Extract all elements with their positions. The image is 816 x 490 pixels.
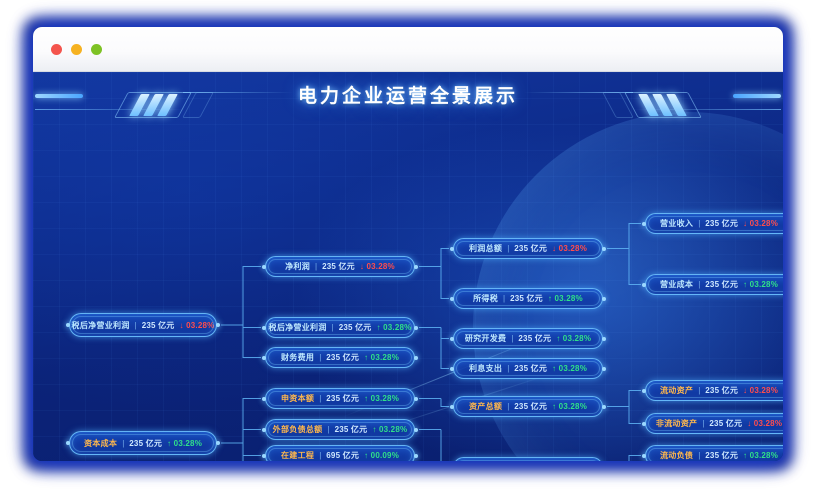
node-separator: | [327,425,329,434]
node-trend: ↓ 03.28% [747,419,782,428]
node-trend: ↑ 03.28% [548,294,583,303]
node-value: 235 亿元 [514,363,547,374]
connector [441,430,449,462]
tree-node[interactable]: 税后净营业利润|235 亿元↑ 03.28% [265,317,415,338]
node-value: 235 亿元 [326,393,359,404]
node-cap-right [414,397,418,401]
node-label: 营业收入 [660,218,693,229]
node-value: 695 亿元 [326,450,359,461]
browser-window: 电力企业运营全景展示 [33,27,783,461]
node-value: 235 亿元 [142,320,175,331]
node-trend: ↓ 03.28% [552,244,587,253]
node-separator: | [122,439,124,448]
node-trend: ↑ 03.28% [552,364,587,373]
node-trend: ↑ 03.28% [556,334,591,343]
node-cap-right [414,454,418,458]
node-label: 非流动资产 [656,418,698,429]
tree-node[interactable]: 负债总额|235 亿元↑ 03.28% [453,457,603,461]
node-value: 235 亿元 [705,385,738,396]
connector [441,249,449,267]
connector [243,399,261,444]
node-separator: | [319,394,321,403]
node-label: 营业成本 [660,279,693,290]
tree-node[interactable]: 净利润|235 亿元↓ 03.28% [265,256,415,277]
node-trend: ↑ 03.28% [372,425,407,434]
node-label: 在建工程 [281,450,314,461]
node-separator: | [698,451,700,460]
tree-node[interactable]: 营业成本|235 亿元↑ 03.28% [645,274,783,295]
connector [243,443,261,456]
connector [243,430,261,444]
node-separator: | [503,294,505,303]
node-separator: | [332,323,334,332]
org-tree: 税后净营业利润|235 亿元↓ 03.28%资本成本|235 亿元↑ 03.28… [33,72,783,461]
node-label: 所得税 [473,293,498,304]
node-separator: | [315,262,317,271]
node-cap-right [414,265,418,269]
connector [441,399,449,407]
node-separator: | [507,364,509,373]
node-value: 235 亿元 [335,424,368,435]
node-separator: | [507,244,509,253]
node-label: 利息支出 [469,363,502,374]
tree-node[interactable]: 非流动资产|235 亿元↓ 03.28% [645,413,783,434]
node-trend: ↑ 03.28% [377,323,412,332]
tree-node[interactable]: 外部负债总额|235 亿元↑ 03.28% [265,419,415,440]
node-value: 235 亿元 [518,333,551,344]
node-value: 235 亿元 [129,438,162,449]
node-separator: | [698,219,700,228]
tree-node[interactable]: 申资本额|235 亿元↑ 03.28% [265,388,415,409]
node-label: 税后净营业利润 [269,322,327,333]
tree-node[interactable]: 财务费用|235 亿元↑ 03.28% [265,347,415,368]
node-label: 税后净营业利润 [72,320,130,331]
connector [629,224,641,249]
window-controls [51,44,102,55]
connector [441,267,449,299]
node-separator: | [319,353,321,362]
screenshot-root: 电力企业运营全景展示 [0,0,816,490]
node-trend: ↑ 03.28% [743,280,778,289]
maximize-icon[interactable] [91,44,102,55]
node-value: 235 亿元 [705,218,738,229]
connector [629,407,641,424]
node-cap-right [414,356,418,360]
tree-node[interactable]: 在建工程|695 亿元↑ 00.09% [265,445,415,461]
node-value: 235 亿元 [510,293,543,304]
node-label: 资本成本 [84,438,117,449]
node-cap-right [602,247,606,251]
node-separator: | [511,334,513,343]
node-cap-right [216,323,220,327]
node-label: 流动负债 [660,450,693,461]
node-separator: | [702,419,704,428]
connector [243,443,261,461]
node-label: 外部负债总额 [273,424,323,435]
connector [441,328,449,339]
node-label: 研究开发费 [465,333,507,344]
node-value: 235 亿元 [322,261,355,272]
tree-node[interactable]: 税后净营业利润|235 亿元↓ 03.28% [69,313,217,337]
node-label: 财务费用 [281,352,314,363]
connector [441,328,449,369]
node-value: 235 亿元 [339,322,372,333]
connector [243,267,261,326]
tree-node[interactable]: 利润总额|235 亿元↓ 03.28% [453,238,603,259]
node-trend: ↑ 00.09% [364,451,399,460]
node-cap-right [602,405,606,409]
node-trend: ↓ 03.28% [180,321,215,330]
node-cap-right [414,326,418,330]
node-cap-right [602,337,606,341]
tree-node[interactable]: 研究开发费|235 亿元↑ 03.28% [453,328,603,349]
tree-node[interactable]: 流动资产|235 亿元↓ 03.28% [645,380,783,401]
tree-node[interactable]: 所得税|235 亿元↑ 03.28% [453,288,603,309]
minimize-icon[interactable] [71,44,82,55]
node-separator: | [698,386,700,395]
connector [243,325,261,358]
node-label: 申资本额 [281,393,314,404]
node-cap-right [216,441,220,445]
node-trend: ↑ 03.28% [552,402,587,411]
node-trend: ↓ 03.28% [743,386,778,395]
tree-node[interactable]: 利息支出|235 亿元↑ 03.28% [453,358,603,379]
node-separator: | [135,321,137,330]
close-icon[interactable] [51,44,62,55]
node-value: 235 亿元 [705,450,738,461]
dashboard-stage: 电力企业运营全景展示 [33,72,783,461]
node-value: 235 亿元 [709,418,742,429]
node-trend: ↑ 03.28% [167,439,202,448]
node-label: 流动资产 [660,385,693,396]
node-separator: | [698,280,700,289]
node-cap-right [602,367,606,371]
node-trend: ↑ 03.28% [743,451,778,460]
node-value: 235 亿元 [705,279,738,290]
tree-node[interactable]: 营业收入|235 亿元↓ 03.28% [645,213,783,234]
connector [629,456,641,462]
node-value: 235 亿元 [514,243,547,254]
tree-node[interactable]: 资产总额|235 亿元↑ 03.28% [453,396,603,417]
node-trend: ↑ 03.28% [364,353,399,362]
node-cap-right [602,297,606,301]
node-label: 资产总额 [469,401,502,412]
tree-node[interactable]: 流动负债|235 亿元↑ 03.28% [645,445,783,461]
node-value: 235 亿元 [514,401,547,412]
node-cap-right [414,428,418,432]
connector [629,249,641,285]
node-trend: ↑ 03.28% [364,394,399,403]
node-label: 净利润 [285,261,310,272]
node-value: 235 亿元 [326,352,359,363]
browser-titlebar [33,27,783,72]
node-separator: | [319,451,321,460]
connector [243,325,261,328]
node-trend: ↓ 03.28% [360,262,395,271]
tree-node[interactable]: 资本成本|235 亿元↑ 03.28% [69,431,217,455]
node-label: 利润总额 [469,243,502,254]
node-trend: ↓ 03.28% [743,219,778,228]
node-separator: | [507,402,509,411]
connector [629,391,641,407]
